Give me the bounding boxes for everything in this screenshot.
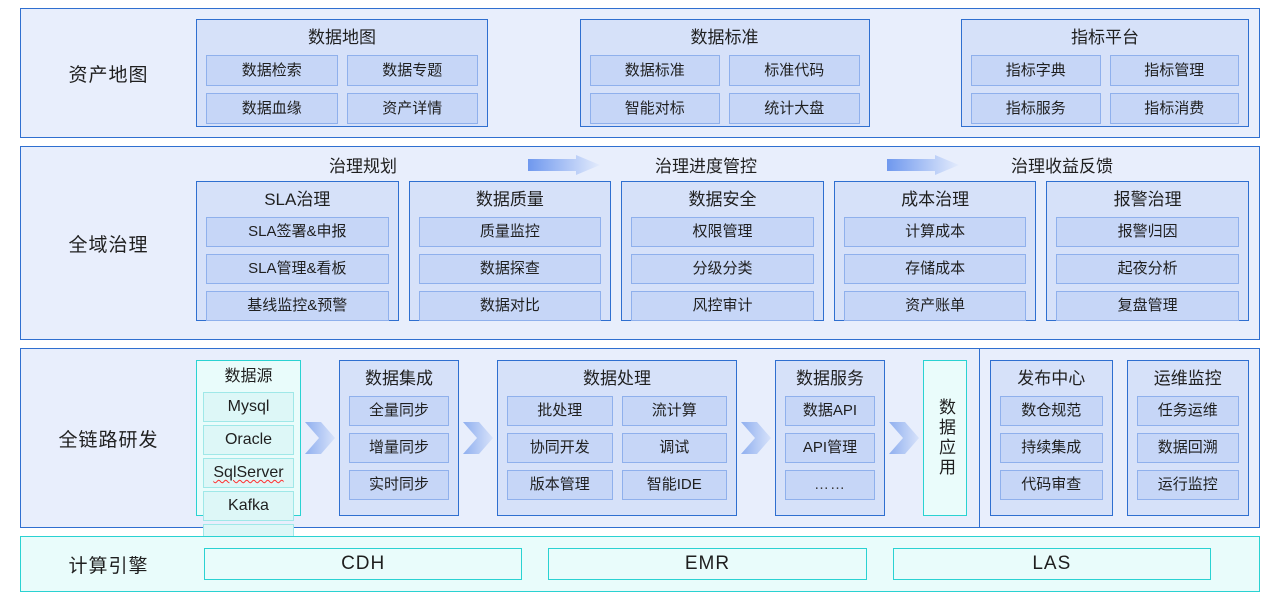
- group-data-standard[interactable]: 数据标准 数据标准 标准代码 智能对标 统计大盘: [580, 19, 870, 127]
- chip-grid: 数仓规范 持续集成 代码审查: [1000, 396, 1103, 500]
- chip-item[interactable]: 数据标准: [590, 55, 721, 86]
- chip-item[interactable]: 分级分类: [631, 254, 814, 284]
- chip-item[interactable]: API管理: [785, 433, 875, 463]
- group-ops-monitoring[interactable]: 运维监控 任务运维 数据回溯 运行监控: [1127, 360, 1250, 516]
- chip-item[interactable]: 运行监控: [1137, 470, 1240, 500]
- chip-item[interactable]: 调试: [622, 433, 728, 463]
- chip-item[interactable]: 报警归因: [1056, 217, 1239, 247]
- chip-grid: 报警归因 起夜分析 复盘管理: [1056, 217, 1239, 321]
- chip-grid: SLA签署&申报 SLA管理&看板 基线监控&预警: [206, 217, 389, 321]
- chevron-right-icon: [305, 420, 335, 456]
- arrow-right-icon: [528, 155, 600, 175]
- chip-grid: 任务运维 数据回溯 运行监控: [1137, 396, 1240, 500]
- chip-item[interactable]: 数仓规范: [1000, 396, 1103, 426]
- chip-item[interactable]: 数据专题: [347, 55, 479, 86]
- chip-item-sqlserver[interactable]: SqlServer: [203, 458, 294, 488]
- chip-item[interactable]: 数据探查: [419, 254, 602, 284]
- chip-item[interactable]: 流计算: [622, 396, 728, 426]
- chip-grid: 数据标准 标准代码 智能对标 统计大盘: [590, 55, 860, 124]
- chip-item-oracle[interactable]: Oracle: [203, 425, 294, 455]
- chip-item[interactable]: 数据API: [785, 396, 875, 426]
- band-label-full-link-dev: 全链路研发: [21, 349, 196, 527]
- chip-item[interactable]: 复盘管理: [1056, 291, 1239, 321]
- chip-item[interactable]: 统计大盘: [729, 93, 860, 124]
- band-label-compute-engine: 计算引擎: [21, 537, 196, 591]
- pipeline: 数据源 Mysql Oracle SqlServer Kafka ……: [196, 360, 967, 516]
- engine-chip-emr[interactable]: EMR: [548, 548, 866, 580]
- chip-item[interactable]: 增量同步: [349, 433, 449, 463]
- chip-item[interactable]: 协同开发: [507, 433, 613, 463]
- group-release-center[interactable]: 发布中心 数仓规范 持续集成 代码审查: [990, 360, 1113, 516]
- group-title: 数据集成: [349, 367, 449, 391]
- chip-item[interactable]: 全量同步: [349, 396, 449, 426]
- band-body-compute-engine: CDH EMR LAS: [196, 537, 1259, 591]
- group-title: 数据处理: [507, 367, 727, 391]
- architecture-diagram: 资产地图 数据地图 数据检索 数据专题 数据血缘 资产详情 数据标准 数据标准 …: [0, 0, 1280, 599]
- band-label-global-governance: 全域治理: [21, 147, 196, 339]
- chip-item[interactable]: SLA管理&看板: [206, 254, 389, 284]
- chip-item[interactable]: 指标管理: [1110, 55, 1240, 86]
- group-data-processing[interactable]: 数据处理 批处理 流计算 协同开发 调试 版本管理 智能IDE: [497, 360, 737, 516]
- group-title: 发布中心: [1000, 367, 1103, 391]
- group-title: SLA治理: [206, 188, 389, 212]
- chip-grid: 权限管理 分级分类 风控审计: [631, 217, 814, 321]
- chip-item[interactable]: 指标消费: [1110, 93, 1240, 124]
- group-title: 数据服务: [785, 367, 875, 391]
- chevron-right-icon: [741, 420, 771, 456]
- group-title: 数据地图: [206, 26, 478, 50]
- group-title: 数据标准: [590, 26, 860, 50]
- group-data-application[interactable]: 数据应用: [923, 360, 967, 516]
- chip-item-mysql[interactable]: Mysql: [203, 392, 294, 422]
- governance-groups: SLA治理 SLA签署&申报 SLA管理&看板 基线监控&预警 数据质量 质量监…: [196, 181, 1249, 339]
- group-metric-platform[interactable]: 指标平台 指标字典 指标管理 指标服务 指标消费: [961, 19, 1249, 127]
- chip-item[interactable]: 持续集成: [1000, 433, 1103, 463]
- group-data-integration[interactable]: 数据集成 全量同步 增量同步 实时同步: [339, 360, 459, 516]
- band-full-link-dev: 全链路研发 数据源 Mysql Oracle SqlServer Kafka ……: [20, 348, 1260, 528]
- band-compute-engine: 计算引擎 CDH EMR LAS: [20, 536, 1260, 592]
- phase-title-progress: 治理进度管控: [655, 152, 757, 177]
- chip-grid: 数据API API管理 ……: [785, 396, 875, 500]
- phase-bar: 治理规划 治理进度管控 治理收益反馈: [196, 147, 1249, 181]
- chip-item[interactable]: 资产账单: [844, 291, 1027, 321]
- group-sla-governance[interactable]: SLA治理 SLA签署&申报 SLA管理&看板 基线监控&预警: [196, 181, 399, 321]
- group-data-map[interactable]: 数据地图 数据检索 数据专题 数据血缘 资产详情: [196, 19, 488, 127]
- chip-item[interactable]: 起夜分析: [1056, 254, 1239, 284]
- band-global-governance: 全域治理 治理规划 治理进度管控 治理收益反馈: [20, 146, 1260, 340]
- band-asset-map: 资产地图 数据地图 数据检索 数据专题 数据血缘 资产详情 数据标准 数据标准 …: [20, 8, 1260, 138]
- chip-item[interactable]: 数据检索: [206, 55, 338, 86]
- chip-item[interactable]: 数据血缘: [206, 93, 338, 124]
- group-title: 指标平台: [971, 26, 1239, 50]
- engine-chip-las[interactable]: LAS: [893, 548, 1211, 580]
- chip-item[interactable]: 资产详情: [347, 93, 479, 124]
- chip-item[interactable]: 计算成本: [844, 217, 1027, 247]
- engine-chip-cdh[interactable]: CDH: [204, 548, 522, 580]
- group-cost-governance[interactable]: 成本治理 计算成本 存储成本 资产账单: [834, 181, 1037, 321]
- chip-item[interactable]: 基线监控&预警: [206, 291, 389, 321]
- chip-item[interactable]: 标准代码: [729, 55, 860, 86]
- chevron-right-icon: [889, 420, 919, 456]
- section-divider: [979, 349, 980, 527]
- group-data-security[interactable]: 数据安全 权限管理 分级分类 风控审计: [621, 181, 824, 321]
- chip-grid: 计算成本 存储成本 资产账单: [844, 217, 1027, 321]
- arrow-right-icon: [887, 155, 959, 175]
- phase-title-benefit: 治理收益反馈: [1011, 152, 1113, 177]
- band-body-full-link-dev: 数据源 Mysql Oracle SqlServer Kafka ……: [196, 349, 1259, 527]
- group-title: 运维监控: [1137, 367, 1240, 391]
- band-label-asset-map: 资产地图: [21, 9, 196, 137]
- chip-item[interactable]: 权限管理: [631, 217, 814, 247]
- chip-item[interactable]: 实时同步: [349, 470, 449, 500]
- chip-item-kafka[interactable]: Kafka: [203, 491, 294, 521]
- group-title: 数据源: [203, 365, 294, 389]
- chip-item[interactable]: 指标服务: [971, 93, 1101, 124]
- band-body-global-governance: 治理规划 治理进度管控 治理收益反馈 SLA治理: [196, 147, 1259, 339]
- group-title: 成本治理: [844, 188, 1027, 212]
- chip-item[interactable]: 版本管理: [507, 470, 613, 500]
- chip-item-more[interactable]: ……: [785, 470, 875, 500]
- chip-item[interactable]: 存储成本: [844, 254, 1027, 284]
- chip-grid: 批处理 流计算 协同开发 调试 版本管理 智能IDE: [507, 396, 727, 500]
- chip-item[interactable]: 智能对标: [590, 93, 721, 124]
- chip-item[interactable]: 代码审查: [1000, 470, 1103, 500]
- chip-grid: 数据检索 数据专题 数据血缘 资产详情: [206, 55, 478, 124]
- band-body-asset-map: 数据地图 数据检索 数据专题 数据血缘 资产详情 数据标准 数据标准 标准代码 …: [196, 9, 1259, 137]
- group-title-vertical: 数据应用: [934, 398, 956, 478]
- group-alert-governance[interactable]: 报警治理 报警归因 起夜分析 复盘管理: [1046, 181, 1249, 321]
- chip-item[interactable]: 任务运维: [1137, 396, 1240, 426]
- group-title: 数据质量: [419, 188, 602, 212]
- chip-item[interactable]: 数据对比: [419, 291, 602, 321]
- group-title: 数据安全: [631, 188, 814, 212]
- chip-grid: 质量监控 数据探查 数据对比: [419, 217, 602, 321]
- chip-grid: 指标字典 指标管理 指标服务 指标消费: [971, 55, 1239, 124]
- chip-item[interactable]: 批处理: [507, 396, 613, 426]
- chevron-right-icon: [463, 420, 493, 456]
- chip-item[interactable]: 数据回溯: [1137, 433, 1240, 463]
- chip-grid: 全量同步 增量同步 实时同步: [349, 396, 449, 500]
- chip-item[interactable]: 智能IDE: [622, 470, 728, 500]
- chip-item[interactable]: 质量监控: [419, 217, 602, 247]
- group-data-source[interactable]: 数据源 Mysql Oracle SqlServer Kafka ……: [196, 360, 301, 516]
- chip-item[interactable]: 风控审计: [631, 291, 814, 321]
- group-title: 报警治理: [1056, 188, 1239, 212]
- chip-item[interactable]: 指标字典: [971, 55, 1101, 86]
- ops-groups: 发布中心 数仓规范 持续集成 代码审查 运维监控 任务运维 数据回溯 运行监控: [990, 360, 1249, 516]
- group-data-service[interactable]: 数据服务 数据API API管理 ……: [775, 360, 885, 516]
- chip-grid: Mysql Oracle SqlServer Kafka ……: [203, 392, 294, 554]
- phase-title-planning: 治理规划: [329, 152, 397, 177]
- chip-item[interactable]: SLA签署&申报: [206, 217, 389, 247]
- group-data-quality[interactable]: 数据质量 质量监控 数据探查 数据对比: [409, 181, 612, 321]
